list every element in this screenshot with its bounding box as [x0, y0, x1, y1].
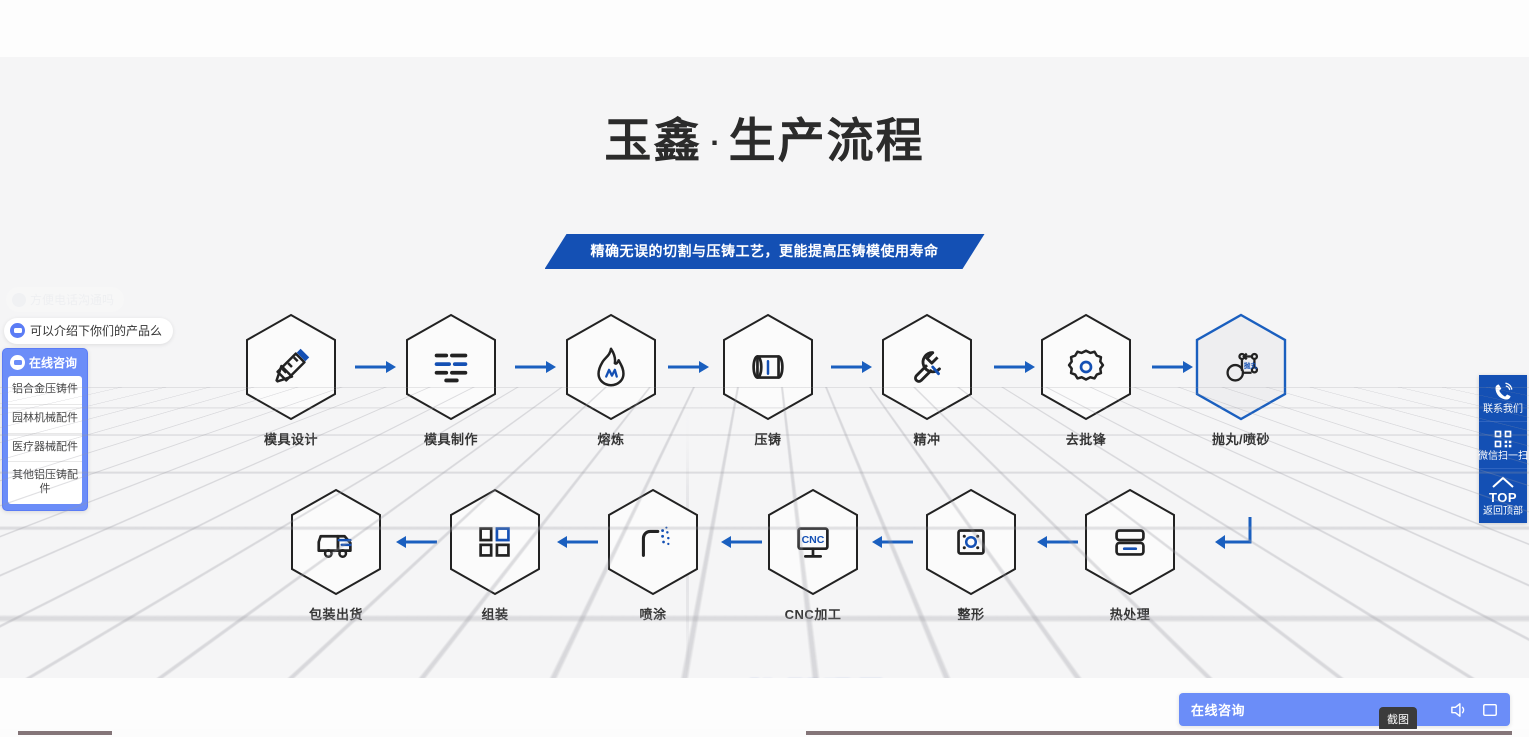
consult-bar-actions: [1450, 702, 1498, 718]
blueprint-roll-icon: [745, 344, 791, 390]
online-consult-header: 在线咨询: [8, 349, 82, 376]
message-icon: [10, 355, 25, 370]
side-toolbar-wechat-qr[interactable]: 微信扫一扫: [1479, 422, 1527, 469]
ruler-pencil-icon: [268, 344, 314, 390]
consult-bottom-bar[interactable]: 在线咨询: [1179, 693, 1510, 726]
arrow-left-icon: [556, 535, 598, 549]
flow-step-label: 喷涂: [605, 604, 701, 623]
shot-blasting-badge-text: 抛丸: [1244, 361, 1258, 370]
flame-icon: [588, 344, 634, 390]
flow-step-label: 包装出货: [288, 604, 384, 623]
flow-step-label: 整形: [923, 604, 1019, 623]
arrow-right-icon: [994, 360, 1036, 374]
hexagon-frame: [1038, 312, 1134, 422]
chevron-up-icon: [1491, 476, 1515, 489]
furnace-icon: [1107, 519, 1153, 565]
spray-nozzle-icon: [630, 519, 676, 565]
hexagon-frame: [563, 312, 659, 422]
chat-ghost-icon: [12, 293, 26, 307]
consult-option-garden-machinery-parts[interactable]: 园林机械配件: [8, 405, 82, 434]
speaker-icon[interactable]: [1450, 702, 1468, 718]
arrow-left-icon: [720, 535, 762, 549]
hexagon-frame: [923, 487, 1019, 597]
hexagon-frame: [605, 487, 701, 597]
chat-ghost-bubble: 方便电话沟通吗: [6, 287, 124, 312]
hexagon-frame: [447, 487, 543, 597]
side-toolbar-contact-us[interactable]: 联系我们: [1479, 375, 1527, 422]
flow-step-melting[interactable]: 熔炼: [563, 312, 659, 448]
side-floating-toolbar: 联系我们 微信扫一扫 TOP 返回顶部: [1479, 375, 1527, 523]
cnc-glyph-text: CNC: [802, 534, 825, 546]
online-consult-title: 在线咨询: [29, 354, 77, 371]
arrow-right-icon: [515, 360, 557, 374]
hexagon-frame: [403, 312, 499, 422]
side-toolbar-label: 返回顶部: [1483, 506, 1523, 517]
flow-step-mold-making[interactable]: 模具制作: [403, 312, 499, 448]
flow-step-shot-blasting[interactable]: 抛丸 抛丸/喷砂: [1193, 312, 1289, 448]
arrow-right-icon: [1152, 360, 1194, 374]
chat-ghost-text: 方便电话沟通吗: [30, 291, 114, 308]
qrcode-icon: [1493, 429, 1513, 449]
message-icon: [10, 323, 25, 338]
side-toolbar-label: 微信扫一扫: [1478, 451, 1528, 462]
arrow-right-icon: [355, 360, 397, 374]
subtitle-wrap: 精确无误的切割与压铸工艺，更能提高压铸模使用寿命: [0, 234, 1529, 269]
flow-step-label: 模具设计: [243, 429, 339, 448]
arrow-left-icon: [1036, 535, 1078, 549]
hexagon-frame-highlighted: 抛丸: [1193, 312, 1289, 422]
cnc-monitor-icon: CNC: [790, 519, 836, 565]
side-toolbar-label: 联系我们: [1483, 404, 1523, 415]
consult-option-medical-device-parts[interactable]: 医疗器械配件: [8, 434, 82, 463]
scrollbar-thumb-left[interactable]: [18, 731, 112, 735]
delivery-truck-icon: [313, 519, 359, 565]
shot-blasting-icon: 抛丸: [1218, 344, 1264, 390]
chat-message-text: 可以介绍下你们的产品么: [30, 322, 162, 339]
flow-step-label: 去批锋: [1038, 429, 1134, 448]
hexagon-frame: [1082, 487, 1178, 597]
brand-name: 玉鑫: [604, 114, 702, 167]
chat-message-bubble[interactable]: 可以介绍下你们的产品么: [4, 318, 173, 344]
flow-step-label: 压铸: [720, 429, 816, 448]
page-title: 玉鑫.生产流程: [0, 115, 1529, 167]
online-consult-panel: 在线咨询 铝合金压铸件 园林机械配件 医疗器械配件 其他铝压铸配件: [2, 348, 88, 511]
title-dot: .: [710, 119, 720, 152]
flow-wrap-arrow-icon: [1212, 514, 1258, 556]
flow-step-label: 热处理: [1082, 604, 1178, 623]
flow-step-label: 抛丸/喷砂: [1193, 429, 1289, 448]
subtitle-banner: 精确无误的切割与压铸工艺，更能提高压铸模使用寿命: [545, 234, 985, 269]
flow-step-heat-treatment[interactable]: 热处理: [1082, 487, 1178, 623]
flow-step-cnc-machining[interactable]: CNC CNC加工: [765, 487, 861, 623]
side-toolbar-back-to-top[interactable]: TOP 返回顶部: [1479, 469, 1527, 523]
flow-step-fine-blanking[interactable]: 精冲: [879, 312, 975, 448]
scrollbar-thumb-right[interactable]: [806, 731, 1512, 735]
page-top-whitespace: [0, 0, 1529, 57]
flow-step-label: 精冲: [879, 429, 975, 448]
consult-bar-title: 在线咨询: [1191, 700, 1245, 719]
title-block: 玉鑫.生产流程: [0, 115, 1529, 167]
arrow-right-icon: [668, 360, 710, 374]
horizontal-scrollbar[interactable]: [0, 729, 1529, 737]
flow-step-label: 熔炼: [563, 429, 659, 448]
hexagon-frame: [288, 487, 384, 597]
flow-step-deburring[interactable]: 去批锋: [1038, 312, 1134, 448]
production-flow-section: 玉鑫.生产流程 精确无误的切割与压铸工艺，更能提高压铸模使用寿命: [0, 57, 1529, 678]
stacked-lines-icon: [428, 344, 474, 390]
gear-icon: [1063, 344, 1109, 390]
phone-icon: [1492, 382, 1514, 402]
flow-step-label: 组装: [447, 604, 543, 623]
flow-step-reshaping[interactable]: 整形: [923, 487, 1019, 623]
consult-option-other-die-casting-parts[interactable]: 其他铝压铸配件: [8, 462, 82, 504]
hexagon-frame: CNC: [765, 487, 861, 597]
flow-step-die-casting[interactable]: 压铸: [720, 312, 816, 448]
page-root: 玉鑫.生产流程 精确无误的切割与压铸工艺，更能提高压铸模使用寿命: [0, 0, 1529, 737]
hexagon-frame: [879, 312, 975, 422]
flow-step-label: 模具制作: [403, 429, 499, 448]
flow-step-packing-shipping[interactable]: 包装出货: [288, 487, 384, 623]
maximize-icon[interactable]: [1482, 702, 1498, 718]
title-rest: 生产流程: [729, 114, 925, 167]
hexagon-frame: [243, 312, 339, 422]
flow-step-mold-design[interactable]: 模具设计: [243, 312, 339, 448]
flow-step-label: CNC加工: [765, 604, 861, 623]
flow-step-spray-coating[interactable]: 喷涂: [605, 487, 701, 623]
arrow-left-icon: [395, 535, 437, 549]
fixture-plate-icon: [948, 519, 994, 565]
arrow-left-icon: [871, 535, 913, 549]
wrench-icon: [904, 344, 950, 390]
side-toolbar-top-word: TOP: [1489, 491, 1517, 504]
arrow-right-icon: [831, 360, 873, 374]
blocks-grid-icon: [472, 519, 518, 565]
consult-option-aluminum-die-casting[interactable]: 铝合金压铸件: [8, 376, 82, 405]
hexagon-frame: [720, 312, 816, 422]
flow-step-assembly[interactable]: 组装: [447, 487, 543, 623]
consult-options-list: 铝合金压铸件 园林机械配件 医疗器械配件 其他铝压铸配件: [8, 376, 82, 504]
